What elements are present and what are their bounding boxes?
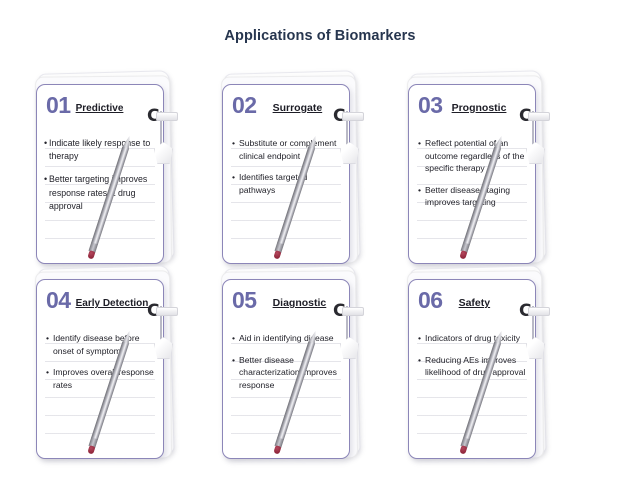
bullet-text: Indicators of drug toxicity <box>425 332 529 345</box>
card-header: 03 Prognostic <box>418 94 527 120</box>
card-bullet-list: • Indicators of drug toxicity • Reducing… <box>418 332 529 388</box>
bullet-text: Better disease characterization improves… <box>239 354 343 392</box>
bullet-text: Identify disease before onset of symptom… <box>53 332 157 357</box>
list-item: • Reducing AEs improves likelihood of dr… <box>418 354 529 379</box>
bullet-icon: • <box>418 354 425 379</box>
bullet-icon: • <box>46 366 53 391</box>
list-item: • Better targeting improves response rat… <box>44 173 161 213</box>
list-item: • Indicators of drug toxicity <box>418 332 529 345</box>
note-card[interactable]: 02 Surrogate • Substitute or complement … <box>222 84 350 264</box>
bullet-icon: • <box>46 332 53 357</box>
note-card[interactable]: 03 Prognostic • Reflect potential of an … <box>408 84 536 264</box>
bullet-text: Indicate likely response to therapy <box>49 137 161 163</box>
card-title: Safety <box>459 297 491 309</box>
list-item: • Aid in identifying disease <box>232 332 343 345</box>
card-number: 02 <box>232 94 257 117</box>
bullet-text: Better disease staging improves targetin… <box>425 184 529 209</box>
card-number: 04 <box>46 289 71 312</box>
card-number: 06 <box>418 289 443 312</box>
bullet-text: Better targeting improves response rates… <box>49 173 161 213</box>
bullet-text: Identifies targeted pathways <box>239 171 343 196</box>
bullet-icon: • <box>232 354 239 392</box>
card-early-detection[interactable]: 04 Early Detection • Identify disease be… <box>30 273 216 463</box>
card-grid: 01 Predictive • Indicate likely response… <box>0 72 640 472</box>
list-item: • Identify disease before onset of sympt… <box>46 332 157 357</box>
list-item: • Better disease staging improves target… <box>418 184 529 209</box>
list-item: • Improves overall response rates <box>46 366 157 391</box>
card-header: 01 Predictive <box>46 94 155 120</box>
list-item: • Indicate likely response to therapy <box>44 137 161 163</box>
card-bullet-list: • Substitute or complement clinical endp… <box>232 137 343 205</box>
card-header: 05 Diagnostic <box>232 289 341 315</box>
card-title: Surrogate <box>273 102 323 114</box>
bullet-icon: • <box>232 332 239 345</box>
card-diagnostic[interactable]: 05 Diagnostic • Aid in identifying disea… <box>216 273 402 463</box>
card-title: Predictive <box>76 103 124 114</box>
card-number: 05 <box>232 289 257 312</box>
card-header: 04 Early Detection <box>46 289 155 315</box>
list-item: • Substitute or complement clinical endp… <box>232 137 343 162</box>
card-surrogate[interactable]: 02 Surrogate • Substitute or complement … <box>216 78 402 268</box>
bullet-text: Substitute or complement clinical endpoi… <box>239 137 343 162</box>
note-card[interactable]: 04 Early Detection • Identify disease be… <box>36 279 164 459</box>
card-bullet-list: • Aid in identifying disease • Better di… <box>232 332 343 400</box>
bullet-icon: • <box>418 332 425 345</box>
bullet-icon: • <box>418 137 425 175</box>
bullet-icon: • <box>232 137 239 162</box>
note-card[interactable]: 01 Predictive • Indicate likely response… <box>36 84 164 264</box>
bullet-icon: • <box>232 171 239 196</box>
list-item: • Better disease characterization improv… <box>232 354 343 392</box>
bullet-text: Reflect potential of an outcome regardle… <box>425 137 529 175</box>
card-header: 02 Surrogate <box>232 94 341 120</box>
card-predictive[interactable]: 01 Predictive • Indicate likely response… <box>30 78 216 268</box>
note-card[interactable]: 06 Safety • Indicators of drug toxicity … <box>408 279 536 459</box>
card-title: Early Detection <box>76 298 149 309</box>
card-bullet-list: • Identify disease before onset of sympt… <box>46 332 157 400</box>
bullet-text: Aid in identifying disease <box>239 332 343 345</box>
note-card[interactable]: 05 Diagnostic • Aid in identifying disea… <box>222 279 350 459</box>
card-prognostic[interactable]: 03 Prognostic • Reflect potential of an … <box>402 78 588 268</box>
card-bullet-list: • Reflect potential of an outcome regard… <box>418 137 529 218</box>
card-safety[interactable]: 06 Safety • Indicators of drug toxicity … <box>402 273 588 463</box>
card-title: Prognostic <box>452 102 507 114</box>
list-item: • Identifies targeted pathways <box>232 171 343 196</box>
page-title: Applications of Biomarkers <box>0 28 640 44</box>
card-number: 03 <box>418 94 443 117</box>
card-number: 01 <box>46 94 71 117</box>
bullet-icon: • <box>418 184 425 209</box>
list-item: • Reflect potential of an outcome regard… <box>418 137 529 175</box>
bullet-text: Reducing AEs improves likelihood of drug… <box>425 354 529 379</box>
bullet-text: Improves overall response rates <box>53 366 157 391</box>
card-title: Diagnostic <box>273 297 327 309</box>
card-bullet-list: • Indicate likely response to therapy • … <box>44 137 161 223</box>
slide-canvas: Applications of Biomarkers 01 Predictive… <box>0 0 640 480</box>
card-header: 06 Safety <box>418 289 527 315</box>
